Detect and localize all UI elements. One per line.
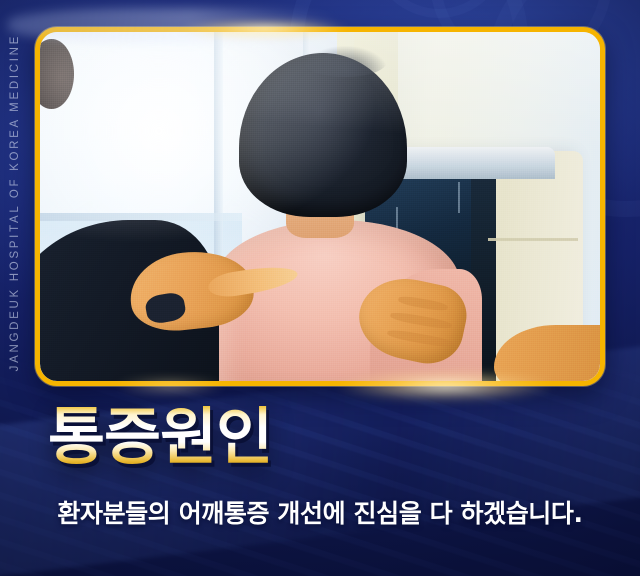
subtitle-before: 환자분들의 [57,499,178,528]
subtitle-after: 에 진심을 다 하겠습니다. [323,499,583,528]
subtitle-emphasis: 어깨통증 개선 [179,499,323,528]
photo-frame [35,27,605,386]
subtitle: 환자분들의 어깨통증 개선에 진심을 다 하겠습니다. [0,500,640,528]
promo-banner: JANGDEUK HOSPITAL OF KOREA MEDICINE [0,0,640,576]
photo-window-mullion-vertical [214,32,223,290]
clinic-photo [40,32,600,381]
photo-medical-device-top [387,147,555,178]
photo-medical-device-line [488,238,578,241]
headline: 통증원인 [48,406,272,468]
photo-device-marker-3 [458,182,460,213]
